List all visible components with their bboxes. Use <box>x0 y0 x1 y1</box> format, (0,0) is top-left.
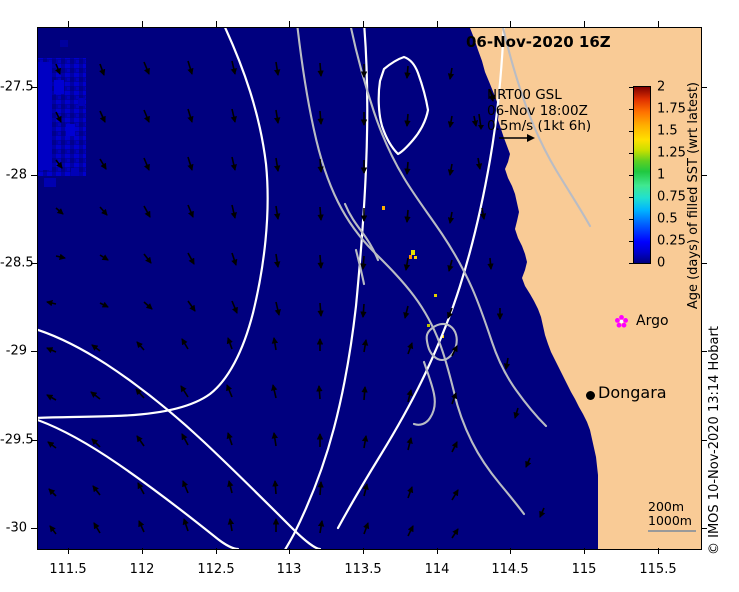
y-tick-label: -30 <box>0 521 27 536</box>
copyright-notice: © IMOS 10-Nov-2020 13:14 Hobart <box>707 326 722 555</box>
y-tick-mark <box>31 175 37 176</box>
x-tick-mark-top <box>363 21 364 27</box>
y-tick-label: -29 <box>0 344 27 359</box>
x-tick-mark <box>289 548 290 554</box>
dongara-label: Dongara <box>598 383 667 402</box>
x-tick-label: 115.5 <box>639 562 676 577</box>
sst-age-patch <box>38 40 86 187</box>
vector-key-scale-arrow <box>497 131 541 145</box>
x-tick-label: 114.5 <box>491 562 528 577</box>
argo-legend: Argo <box>615 313 669 329</box>
scale-line <box>648 530 696 532</box>
depth-scale-legend: 200m 1000m <box>648 500 696 532</box>
x-tick-label: 115 <box>572 562 597 577</box>
colorbar-label-1.25: 1.25 <box>657 146 686 161</box>
colorbar-label-0.25: 0.25 <box>657 234 686 249</box>
x-tick-mark <box>584 548 585 554</box>
vector-key-line2: 06-Nov 18:00Z <box>487 104 591 120</box>
x-tick-mark-top <box>289 21 290 27</box>
colorbar-tick <box>629 219 634 220</box>
x-tick-label: 113 <box>277 562 302 577</box>
y-tick-label: -27.5 <box>0 80 27 95</box>
x-tick-mark-top <box>510 21 511 27</box>
colorbar-label-1.75: 1.75 <box>657 102 686 117</box>
x-tick-label: 112.5 <box>197 562 234 577</box>
vector-key-block: NRT00 GSL 06-Nov 18:00Z 0.5m/s (1kt 6h) <box>487 88 591 135</box>
x-tick-mark-top <box>584 21 585 27</box>
colorbar-tick <box>629 241 634 242</box>
scale-label-200m: 200m <box>648 500 696 514</box>
x-tick-label: 112 <box>130 562 155 577</box>
x-tick-mark <box>658 548 659 554</box>
y-tick-mark-right <box>701 87 707 88</box>
colorbar-tick <box>629 175 634 176</box>
x-tick-label: 113.5 <box>344 562 381 577</box>
argo-legend-label: Argo <box>636 313 669 329</box>
vector-key-line1: NRT00 GSL <box>487 88 591 104</box>
colorbar-gradient: 0 0.25 0.5 0.75 1 1.25 1.5 1.75 2 <box>633 86 651 264</box>
dongara-marker-dot <box>586 391 595 400</box>
x-tick-label: 111.5 <box>49 562 86 577</box>
y-tick-label: -29.5 <box>0 433 27 448</box>
colorbar-label-1: 1 <box>657 168 665 183</box>
colorbar-label-0: 0 <box>657 256 665 271</box>
y-tick-mark <box>31 351 37 352</box>
scale-label-1000m: 1000m <box>648 514 696 528</box>
x-tick-mark <box>363 548 364 554</box>
colorbar-tick <box>629 131 634 132</box>
y-tick-label: -28.5 <box>0 256 27 271</box>
y-tick-mark <box>31 528 37 529</box>
y-tick-mark-right <box>701 263 707 264</box>
colorbar-axis-title: Age (days) of filled SST (wrt latest) <box>686 82 701 309</box>
colorbar-tick <box>629 109 634 110</box>
vector-key-sample-arrow <box>474 113 490 133</box>
y-tick-label: -28 <box>0 168 27 183</box>
colorbar-tick <box>629 87 634 88</box>
map-graphic <box>38 28 701 549</box>
x-tick-mark <box>142 548 143 554</box>
colorbar-tick <box>629 197 634 198</box>
x-tick-mark <box>68 548 69 554</box>
colorbar-label-2: 2 <box>657 80 665 95</box>
argo-float-icon <box>615 315 628 328</box>
x-tick-label: 114 <box>425 562 450 577</box>
y-tick-mark-right <box>701 175 707 176</box>
x-tick-mark-top <box>658 21 659 27</box>
colorbar-label-0.5: 0.5 <box>657 212 678 227</box>
x-tick-mark-top <box>216 21 217 27</box>
colorbar-label-0.75: 0.75 <box>657 190 686 205</box>
figure-canvas: 06-Nov-2020 16Z NRT00 GSL 06-Nov 18:00Z … <box>0 0 739 592</box>
x-tick-mark-top <box>437 21 438 27</box>
colorbar-tick <box>629 153 634 154</box>
map-plot-area[interactable] <box>37 27 702 550</box>
x-tick-mark <box>216 548 217 554</box>
colorbar: 0 0.25 0.5 0.75 1 1.25 1.5 1.75 2 <box>633 86 651 264</box>
x-tick-mark-top <box>142 21 143 27</box>
x-tick-mark-top <box>68 21 69 27</box>
x-tick-mark <box>437 548 438 554</box>
x-tick-mark <box>510 548 511 554</box>
colorbar-tick <box>629 263 634 264</box>
colorbar-label-1.5: 1.5 <box>657 124 678 139</box>
map-title: 06-Nov-2020 16Z <box>466 33 611 51</box>
